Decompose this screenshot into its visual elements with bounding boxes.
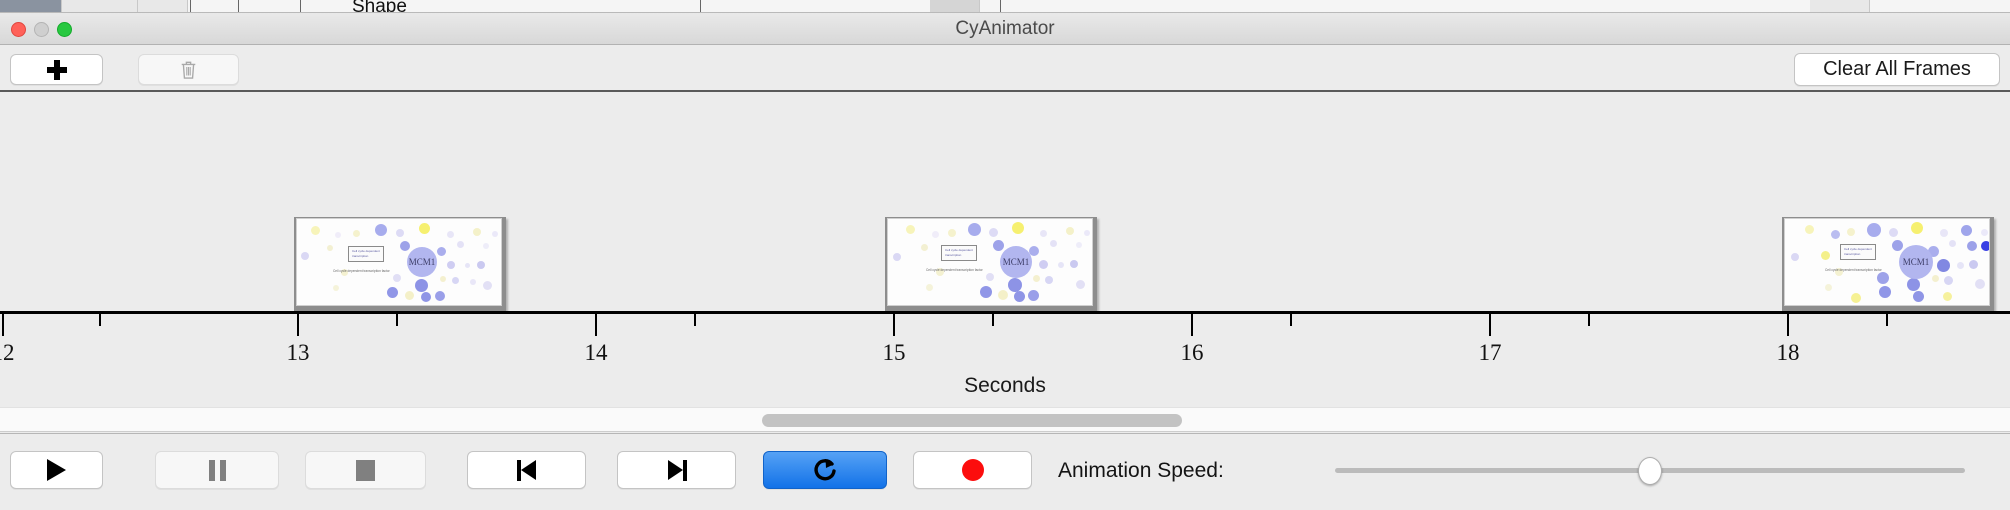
- close-button[interactable]: [11, 22, 26, 37]
- pause-button[interactable]: [155, 451, 279, 489]
- play-icon: [47, 459, 66, 481]
- bg-tab-dark: [0, 0, 62, 13]
- bg-tab: [930, 0, 980, 13]
- bg-tab: [138, 0, 188, 13]
- timeline-scrollbar[interactable]: [0, 407, 2010, 432]
- delete-frame-button[interactable]: [138, 54, 239, 85]
- thumbnail-tooltip: Cell cycle dependent transcription: [348, 246, 384, 262]
- animation-speed-slider[interactable]: [1335, 468, 1965, 473]
- ruler-tick: [1787, 314, 1789, 336]
- stop-button[interactable]: [305, 451, 426, 489]
- stop-icon: [356, 460, 375, 481]
- title-bar: CyAnimator: [0, 13, 2010, 45]
- thumbnail-note: Cell cycle dependent transcription facto…: [333, 269, 390, 273]
- thumbnail-note: Cell cycle dependent transcription facto…: [926, 268, 983, 272]
- ruler-tick: [99, 314, 101, 326]
- add-frame-button[interactable]: [10, 54, 103, 85]
- plus-icon: [47, 60, 67, 80]
- thumbnail-tooltip: Cell cycle dependent transcription: [941, 245, 977, 261]
- skip-end-button[interactable]: [617, 451, 736, 489]
- pause-icon: [209, 460, 226, 481]
- transport-bar: Animation Speed:: [0, 433, 2010, 510]
- ruler-tick-label: 15: [883, 340, 906, 366]
- background-window-label: Shape: [352, 0, 407, 13]
- ruler-tick: [595, 314, 597, 336]
- window-title: CyAnimator: [0, 13, 2010, 45]
- timeline-ruler[interactable]: 12131415161718 Seconds: [0, 311, 2010, 407]
- animation-speed-slider-thumb[interactable]: [1638, 457, 1662, 485]
- ruler-tick: [1886, 314, 1888, 326]
- bg-divider: [190, 0, 191, 13]
- ruler-axis-line: [0, 311, 2010, 314]
- ruler-tick-label: 18: [1777, 340, 1800, 366]
- cyanimator-window: Shape CyAnimator Clear All Frames: [0, 0, 2010, 510]
- toolbar: Clear All Frames: [0, 45, 2010, 92]
- frame-thumbnail-image: MCM1 Cell cycle dependent transcription …: [1784, 218, 1990, 306]
- skip-start-button[interactable]: [467, 451, 586, 489]
- bg-divider: [700, 0, 701, 13]
- skip-start-icon: [517, 460, 537, 481]
- bg-tab: [62, 0, 138, 13]
- animation-speed-label: Animation Speed:: [1058, 459, 1224, 483]
- ruler-tick: [694, 314, 696, 326]
- ruler-tick-label: 13: [287, 340, 310, 366]
- ruler-tick: [396, 314, 398, 326]
- frame-thumbnail[interactable]: MCM1 Cell cycle dependent transcription …: [294, 217, 506, 311]
- skip-end-icon: [667, 460, 687, 481]
- scrollbar-thumb[interactable]: [762, 414, 1182, 427]
- hub-node-label: MCM1: [1899, 245, 1933, 279]
- bg-divider: [238, 0, 239, 13]
- frame-thumbnail[interactable]: MCM1 Cell cycle dependent transcription …: [885, 217, 1097, 311]
- frame-thumbnail-image: MCM1 Cell cycle dependent transcription …: [887, 218, 1093, 306]
- ruler-tick: [1290, 314, 1292, 326]
- ruler-tick-label: 16: [1181, 340, 1204, 366]
- frame-thumbnail[interactable]: MCM1 Cell cycle dependent transcription …: [1782, 217, 1994, 311]
- thumbnail-note: Cell cycle dependent transcription facto…: [1825, 268, 1882, 272]
- hub-node-label: MCM1: [407, 247, 437, 277]
- trash-icon: [180, 60, 197, 80]
- ruler-tick-label: 17: [1479, 340, 1502, 366]
- clear-all-frames-button[interactable]: Clear All Frames: [1794, 53, 2000, 86]
- ruler-tick: [893, 314, 895, 336]
- ruler-tick: [2, 314, 4, 336]
- frame-thumbnail-image: MCM1 Cell cycle dependent transcription …: [296, 218, 502, 306]
- maximize-button[interactable]: [57, 22, 72, 37]
- ruler-tick: [992, 314, 994, 326]
- ruler-tick: [1191, 314, 1193, 336]
- ruler-tick: [297, 314, 299, 336]
- bg-tab: [1810, 0, 1870, 13]
- ruler-tick-label: 14: [585, 340, 608, 366]
- window-controls: [11, 22, 72, 37]
- ruler-tick: [1489, 314, 1491, 336]
- hub-node-label: MCM1: [1000, 246, 1032, 278]
- background-window-strip: Shape: [0, 0, 2010, 13]
- bg-divider: [1000, 0, 1001, 13]
- record-button[interactable]: [913, 451, 1032, 489]
- timeline-frames-area[interactable]: MCM1 Cell cycle dependent transcription …: [0, 92, 2010, 311]
- ruler-axis-title: Seconds: [0, 374, 2010, 398]
- minimize-button[interactable]: [34, 22, 49, 37]
- loop-button[interactable]: [763, 451, 887, 489]
- ruler-tick-label: 12: [0, 340, 15, 366]
- record-icon: [962, 459, 984, 481]
- play-button[interactable]: [10, 451, 103, 489]
- bg-divider: [300, 0, 301, 13]
- loop-icon: [812, 456, 838, 484]
- ruler-tick: [1588, 314, 1590, 326]
- thumbnail-tooltip: Cell cycle dependent transcription: [1840, 244, 1876, 260]
